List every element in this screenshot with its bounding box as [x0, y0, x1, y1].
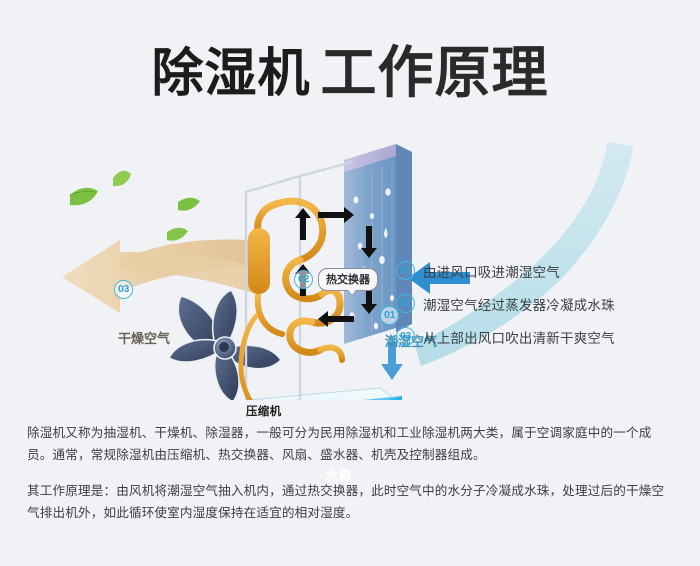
infographic-page: 除湿机工作原理: [0, 0, 700, 566]
legend-list: 01 由进风口吸进潮湿空气 02 潮湿空气经过蒸发器冷凝成水珠 03 从上部出风…: [396, 254, 686, 353]
badge-03-dry-air: 03: [114, 280, 133, 299]
legend-badge-01: 01: [396, 261, 415, 280]
callout-heat-exchanger: 热交换器: [318, 268, 378, 291]
legend-text-02: 潮湿空气经过蒸发器冷凝成水珠: [423, 294, 615, 314]
legend-item-02: 02 潮湿空气经过蒸发器冷凝成水珠: [396, 287, 686, 320]
legend-item-01: 01 由进风口吸进潮湿空气: [396, 254, 686, 287]
fan-blades: [169, 290, 281, 400]
paragraph-2: 其工作原理是：由风机将潮湿空气抽入机内，通过热交换器，此时空气中的水分子冷凝成水…: [27, 480, 675, 524]
paragraph-1: 除湿机又称为抽湿机、干燥机、除湿器，一般可分为民用除湿机和工业除湿机两大类，属于…: [27, 422, 675, 466]
label-dry-air: 干燥空气: [118, 328, 170, 347]
legend-item-03: 03 从上部出风口吹出清新干爽空气: [396, 320, 686, 353]
title-part-a: 除湿机: [151, 45, 310, 103]
legend-text-03: 从上部出风口吹出清新干爽空气: [423, 327, 615, 347]
body-copy: 除湿机又称为抽湿机、干燥机、除湿器，一般可分为民用除湿机和工业除湿机两大类，属于…: [27, 422, 675, 524]
legend-text-01: 由进风口吸进潮湿空气: [423, 261, 560, 281]
legend-badge-03: 03: [396, 327, 415, 346]
label-compressor: 压缩机: [246, 403, 281, 419]
condensate-basin: [248, 388, 404, 400]
legend-badge-02: 02: [396, 294, 415, 313]
page-title: 除湿机工作原理: [0, 28, 700, 109]
badge-02-heat-exchanger: 02: [294, 270, 313, 289]
title-part-b: 工作原理: [321, 41, 549, 104]
green-leaves: [70, 171, 200, 241]
refrigerant-coil: [241, 201, 342, 400]
